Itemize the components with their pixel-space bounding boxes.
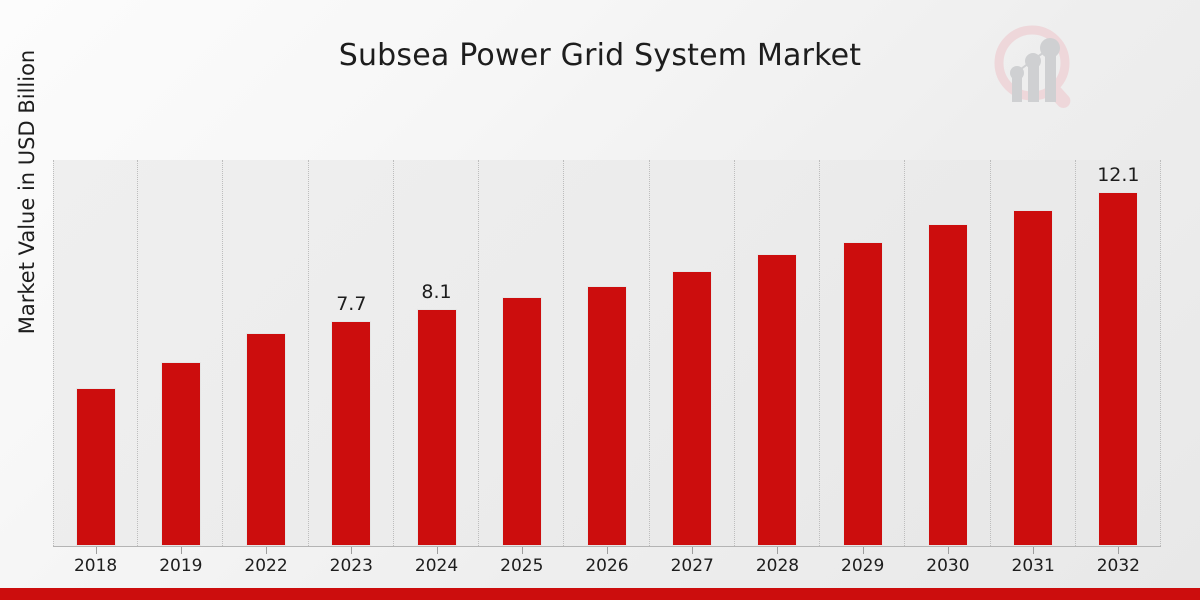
bar-2032[interactable] (1098, 192, 1138, 546)
x-tick-label-2031: 2031 (998, 556, 1068, 576)
gridline (649, 160, 651, 546)
plot-area (53, 160, 1161, 546)
bar-value-label-2032: 12.1 (1083, 164, 1153, 186)
bar-2027[interactable] (672, 271, 712, 546)
gridline (904, 160, 906, 546)
x-tick-2026 (607, 547, 608, 554)
x-tick-2022 (266, 547, 267, 554)
gridline (53, 160, 55, 546)
x-tick-label-2022: 2022 (231, 556, 301, 576)
bar-2028[interactable] (757, 254, 797, 546)
x-tick-2023 (351, 547, 352, 554)
x-tick-2024 (437, 547, 438, 554)
bar-chart-figure: Subsea Power Grid System Market Market V… (0, 0, 1200, 600)
bar-2030[interactable] (928, 224, 968, 546)
x-tick-label-2028: 2028 (742, 556, 812, 576)
x-tick-2018 (96, 547, 97, 554)
gridline (393, 160, 395, 546)
gridline (137, 160, 139, 546)
bar-2024[interactable] (417, 309, 457, 546)
bar-2022[interactable] (246, 333, 286, 546)
x-tick-label-2030: 2030 (913, 556, 983, 576)
x-tick-2028 (777, 547, 778, 554)
gridline (819, 160, 821, 546)
bar-2031[interactable] (1013, 210, 1053, 546)
x-tick-label-2029: 2029 (828, 556, 898, 576)
x-tick-label-2024: 2024 (402, 556, 472, 576)
gridline (308, 160, 310, 546)
x-tick-label-2026: 2026 (572, 556, 642, 576)
bottom-accent-band (0, 588, 1200, 600)
x-tick-2031 (1033, 547, 1034, 554)
gridline (563, 160, 565, 546)
bar-2029[interactable] (843, 242, 883, 546)
x-tick-label-2027: 2027 (657, 556, 727, 576)
y-axis-title: Market Value in USD Billion (15, 0, 39, 387)
gridline (1160, 160, 1162, 546)
gridline (734, 160, 736, 546)
x-tick-label-2032: 2032 (1083, 556, 1153, 576)
x-tick-label-2019: 2019 (146, 556, 216, 576)
x-tick-2029 (863, 547, 864, 554)
gridline (222, 160, 224, 546)
magnifying-glass-bar-chart-logo (985, 18, 1090, 118)
gridline (1075, 160, 1077, 546)
x-tick-2019 (181, 547, 182, 554)
x-tick-label-2025: 2025 (487, 556, 557, 576)
gridline (990, 160, 992, 546)
bar-2019[interactable] (161, 362, 201, 546)
x-tick-2032 (1118, 547, 1119, 554)
bar-2026[interactable] (587, 286, 627, 546)
x-tick-2030 (948, 547, 949, 554)
bar-2018[interactable] (76, 388, 116, 546)
bar-2023[interactable] (331, 321, 371, 546)
bar-value-label-2024: 8.1 (402, 281, 472, 303)
x-tick-label-2023: 2023 (316, 556, 386, 576)
x-tick-label-2018: 2018 (61, 556, 131, 576)
bar-2025[interactable] (502, 297, 542, 546)
x-tick-2027 (692, 547, 693, 554)
gridline (478, 160, 480, 546)
bar-value-label-2023: 7.7 (316, 293, 386, 315)
x-tick-2025 (522, 547, 523, 554)
